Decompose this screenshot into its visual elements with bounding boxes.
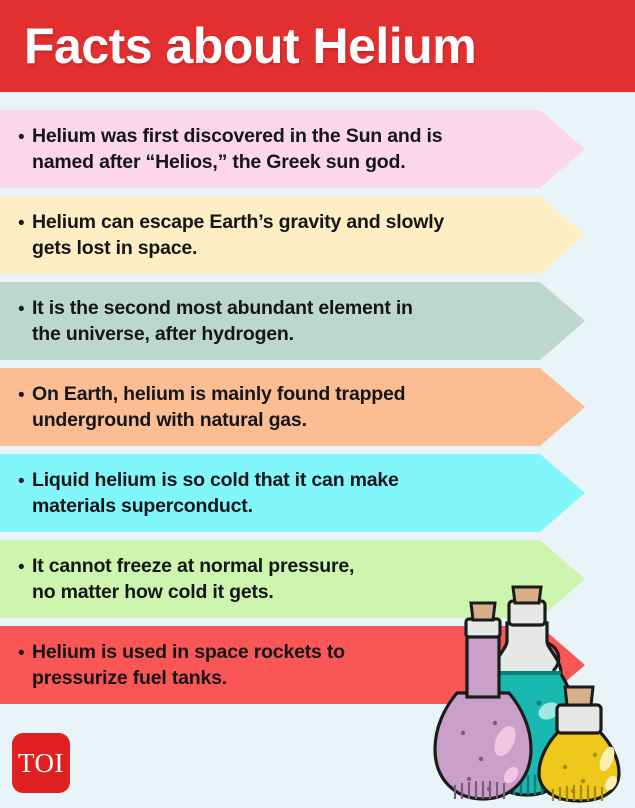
toi-logo-text: TOI — [18, 750, 64, 777]
facts-list: •Helium was first discovered in the Sun … — [0, 110, 635, 712]
fact-bullet-icon: • — [18, 386, 32, 405]
fact-bullet-icon: • — [18, 558, 32, 577]
fact-band: •Helium was first discovered in the Sun … — [0, 110, 585, 188]
fact-band: •It is the second most abundant element … — [0, 282, 585, 360]
fact-text: It is the second most abundant element i… — [32, 295, 473, 348]
fact-text: Liquid helium is so cold that it can mak… — [32, 467, 459, 520]
fact-text: On Earth, helium is mainly found trapped… — [32, 381, 465, 434]
toi-logo[interactable]: TOI — [12, 733, 70, 793]
fact-text: Helium can escape Earth’s gravity and sl… — [32, 209, 504, 262]
fact-bullet-icon: • — [18, 128, 32, 147]
fact-band: •Helium is used in space rockets to pres… — [0, 626, 585, 704]
fact-bullet-icon: • — [18, 644, 32, 663]
fact-band: •It cannot freeze at normal pressure, no… — [0, 540, 585, 618]
fact-bullet-icon: • — [18, 300, 32, 319]
fact-bullet-icon: • — [18, 214, 32, 233]
fact-band: •Helium can escape Earth’s gravity and s… — [0, 196, 585, 274]
fact-bullet-icon: • — [18, 472, 32, 491]
fact-text: Helium is used in space rockets to press… — [32, 639, 405, 692]
fact-text: Helium was first discovered in the Sun a… — [32, 123, 502, 176]
fact-band: •On Earth, helium is mainly found trappe… — [0, 368, 585, 446]
header-banner: Facts about Helium — [0, 0, 635, 92]
fact-band: •Liquid helium is so cold that it can ma… — [0, 454, 585, 532]
page-title: Facts about Helium — [0, 21, 476, 71]
fact-text: It cannot freeze at normal pressure, no … — [32, 553, 414, 606]
